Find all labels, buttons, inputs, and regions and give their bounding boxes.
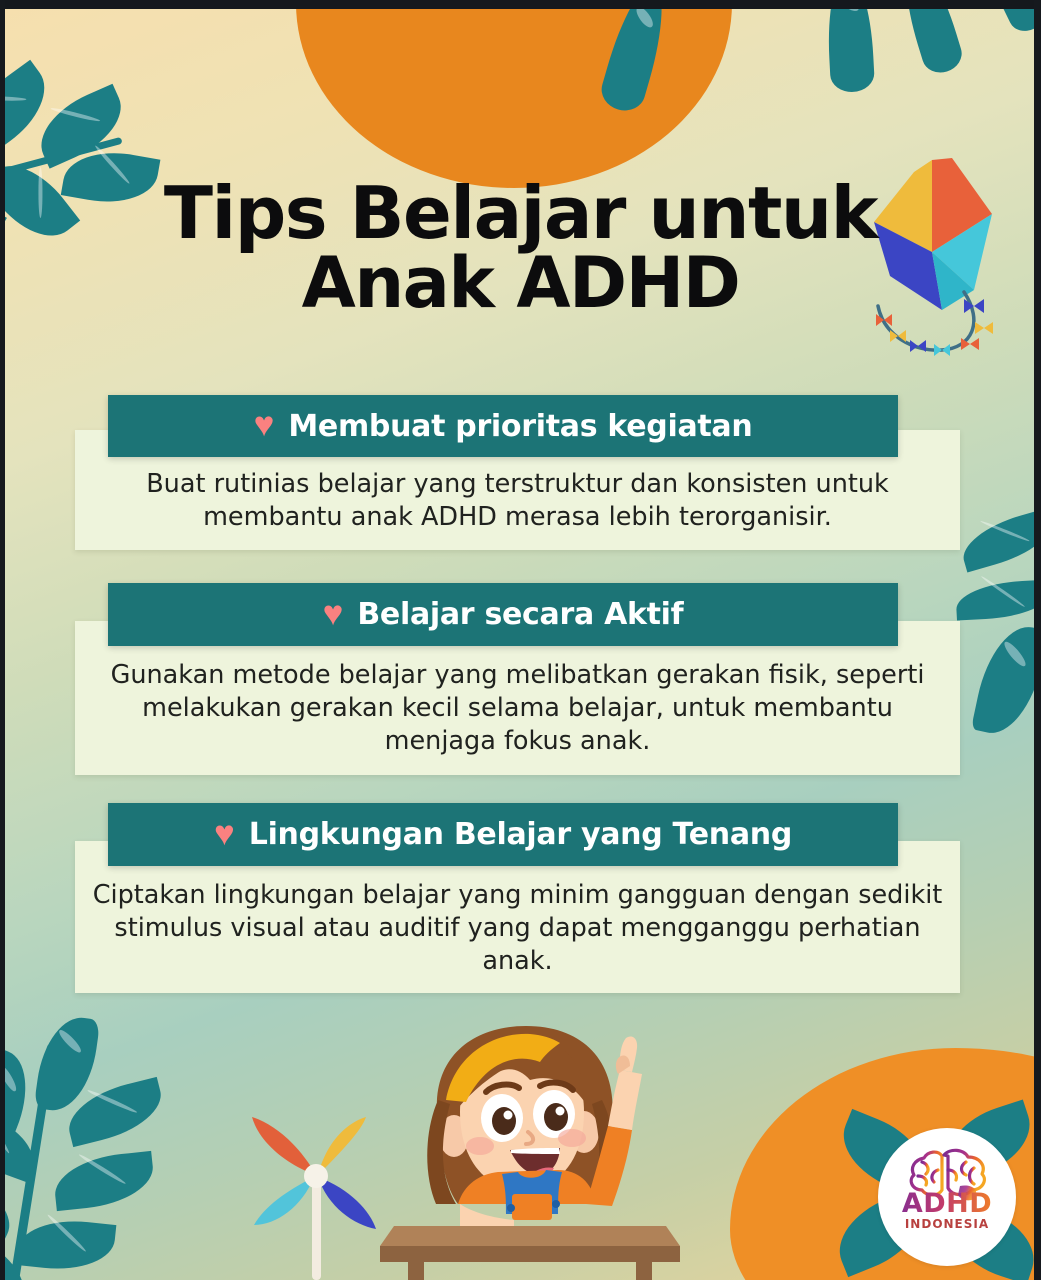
girl-raising-hand-illustration [380,1008,680,1280]
heart-icon: ♥ [254,407,275,442]
tip-card-2-header: ♥ Belajar secara Aktif [108,583,898,646]
leaf-cluster-right-icon [960,520,1041,750]
tip-card-1: ♥ Membuat prioritas kegiatan Buat rutini… [75,395,960,550]
letterbox-top [0,0,1041,9]
tip-card-2: ♥ Belajar secara Aktif Gunakan metode be… [75,583,960,775]
tip-card-1-body: Buat rutinias belajar yang terstruktur d… [75,468,960,534]
tip-card-1-heading: Membuat prioritas kegiatan [288,409,752,444]
heart-icon: ♥ [323,596,344,631]
logo-name: ADHD [902,1188,992,1219]
leaf-cluster-icon [600,0,860,124]
tip-card-2-heading: Belajar secara Aktif [357,597,683,632]
frame-edge-right [1034,0,1041,1280]
tip-card-2-body: Gunakan metode belajar yang melibatkan g… [75,659,960,758]
tip-card-3-body: Ciptakan lingkungan belajar yang minim g… [75,879,960,978]
tip-card-3: ♥ Lingkungan Belajar yang Tenang Ciptaka… [75,803,960,993]
title-line-2: Anak ADHD [0,249,1041,318]
tip-card-3-header: ♥ Lingkungan Belajar yang Tenang [108,803,898,866]
logo-subtitle: INDONESIA [905,1217,989,1231]
leaf-branch-bottom-icon [0,1022,226,1280]
tip-card-1-header: ♥ Membuat prioritas kegiatan [108,395,898,457]
tip-card-3-heading: Lingkungan Belajar yang Tenang [249,817,792,852]
frame-edge-left [0,0,5,1280]
infographic-poster: Tips Belajar untuk Anak ADHD ♥ Membuat p… [0,0,1041,1280]
title-line-1: Tips Belajar untuk [0,178,1041,249]
brand-logo[interactable]: ADHD INDONESIA [878,1128,1016,1266]
heart-icon: ♥ [214,816,235,851]
page-title: Tips Belajar untuk Anak ADHD [0,178,1041,317]
